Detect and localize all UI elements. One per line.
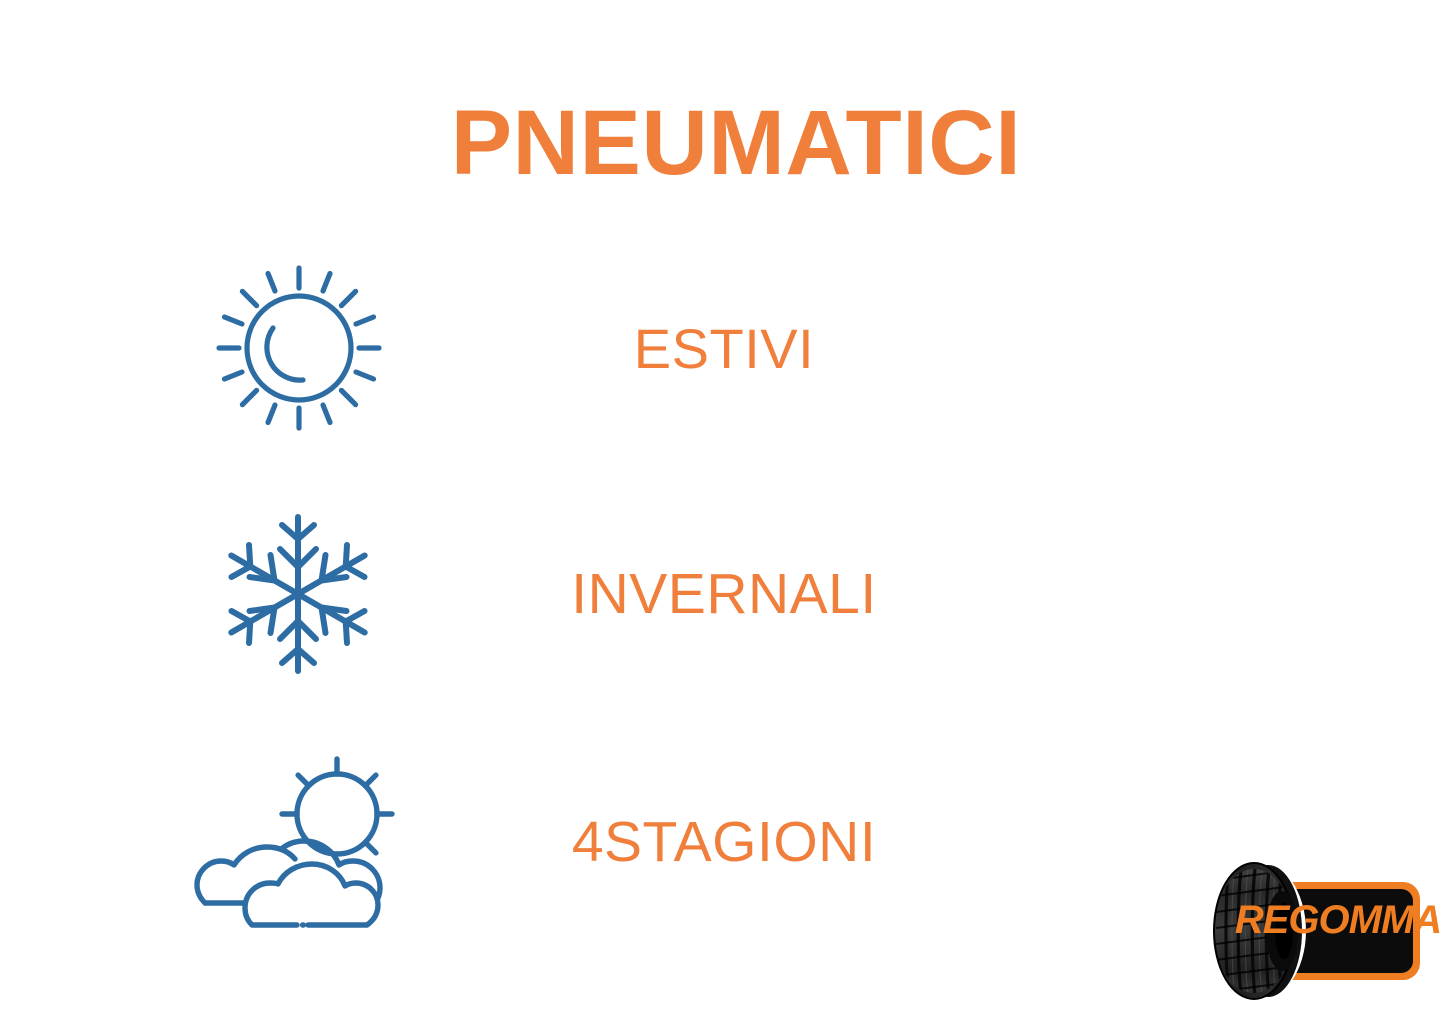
sun-behind-clouds-icon	[190, 742, 405, 942]
slide-canvas: PNEUMATICI	[0, 0, 1445, 1022]
page-title: PNEUMATICI	[0, 97, 1445, 189]
snowflake-icon	[190, 494, 405, 694]
list-item: ESTIVI	[0, 248, 1445, 448]
brand-logo	[1196, 856, 1432, 1006]
list-item: INVERNALI	[0, 494, 1445, 694]
list-item-label: INVERNALI	[464, 494, 984, 694]
list-item-label: 4STAGIONI	[464, 742, 984, 942]
tire-icon	[1202, 858, 1306, 1004]
list-item-label: ESTIVI	[464, 248, 984, 448]
sun-icon	[190, 248, 405, 448]
